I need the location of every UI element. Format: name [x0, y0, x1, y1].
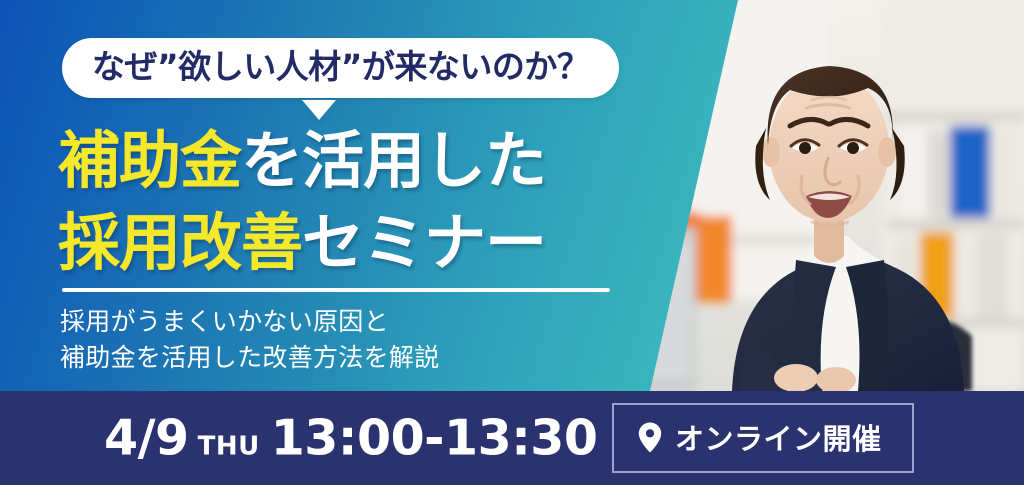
speech-bubble: なぜ”欲しい人材”が来ないのか？	[62, 38, 619, 98]
event-date: 4/9	[104, 410, 189, 467]
footer-bar: 4/9 THU 13:00-13:30 オンライン開催	[0, 391, 1024, 485]
headline-line-1: 補助金を活用した	[58, 120, 546, 202]
venue-label: オンライン開催	[675, 416, 882, 458]
headline-divider	[62, 288, 610, 292]
subtitle-line-1: 採用がうまくいかない原因と	[60, 304, 440, 340]
headline-line-1-accent: 補助金	[58, 124, 241, 197]
speech-bubble-text: なぜ”欲しい人材”が来ないのか？	[92, 47, 589, 87]
speech-bubble-tail	[302, 100, 336, 120]
venue-badge: オンライン開催	[612, 403, 914, 473]
headline-line-1-plain: を活用した	[241, 124, 546, 197]
headline-line-2: 採用改善セミナー	[58, 202, 546, 284]
headline-line-2-plain: セミナー	[302, 206, 546, 279]
headline-line-2-accent: 採用改善	[58, 206, 302, 279]
seminar-banner: なぜ”欲しい人材”が来ないのか？ 補助金を活用した 採用改善セミナー 採用がうま…	[0, 0, 1024, 485]
headline: 補助金を活用した 採用改善セミナー	[58, 120, 546, 284]
map-pin-icon	[638, 422, 662, 453]
event-weekday: THU	[198, 432, 260, 462]
event-time: 13:00-13:30	[271, 410, 598, 467]
subtitle: 採用がうまくいかない原因と 補助金を活用した改善方法を解説	[60, 304, 440, 375]
event-datetime: 4/9 THU 13:00-13:30	[104, 410, 597, 467]
subtitle-line-2: 補助金を活用した改善方法を解説	[60, 340, 440, 376]
